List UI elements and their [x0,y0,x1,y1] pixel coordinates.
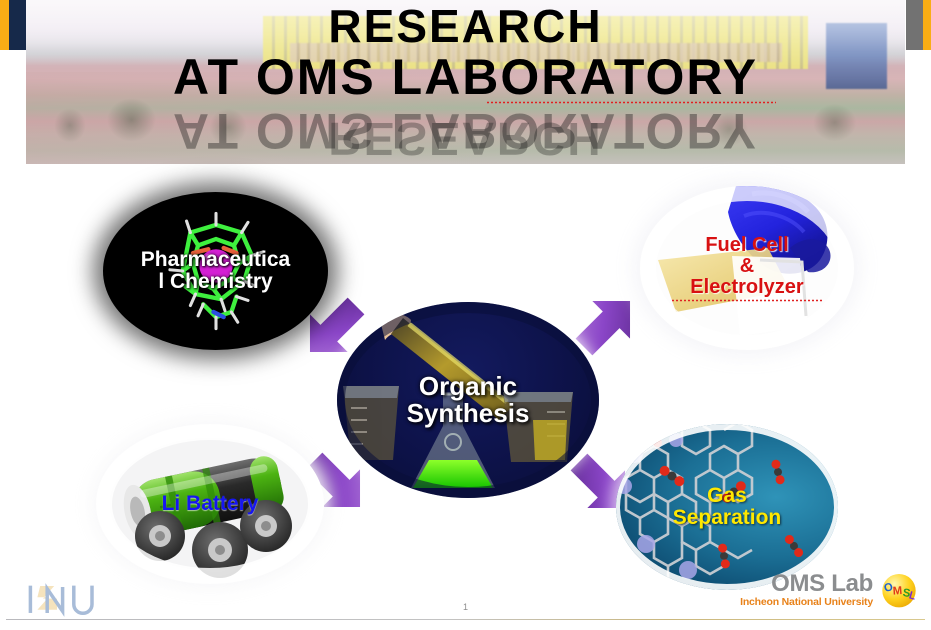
inu-university-logo-icon [22,580,106,620]
oms-lab-affiliation: Incheon National University [740,597,873,609]
fuel-label-line3: Electrolyzer [690,276,803,298]
title-reflection-line1: RESEARCH [26,116,905,162]
oms-lab-text: OMS Lab Incheon National University [740,571,873,609]
pharma-label-line1: Pharmaceutica [141,248,290,271]
oms-lab-name: OMS Lab [740,571,873,596]
title-reflection-line2: AT OMS LABORATORY [26,106,905,156]
omsl-badge-icon: O M S L [879,570,919,610]
slide-title-line1: RESEARCH [26,3,905,49]
node-organic-synthesis[interactable]: Organic Synthesis [337,302,599,498]
oms-lab-logo-block: OMS Lab Incheon National University O M … [740,570,919,610]
fuel-label-line2: & [740,255,754,277]
center-label-line1: Organic [419,371,517,401]
fuel-label-line1: Fuel Cell [705,234,788,256]
pharma-label-line2: l Chemistry [158,270,272,293]
accent-bar-orange-right [923,0,931,50]
svg-text:M: M [892,585,902,598]
presentation-slide: RESEARCH AT OMS LABORATORY RESEARCH AT O… [0,0,931,630]
accent-bar-navy-left [9,0,26,50]
node-gas-separation[interactable]: Gas Separation [616,424,838,590]
node-label-fuel-cell: Fuel Cell & Electrolyzer [641,235,853,302]
node-label-organic-synthesis: Organic Synthesis [401,373,536,428]
accent-bar-gray-right [906,0,923,50]
gas-label-line1: Gas [707,484,747,507]
spellcheck-underline-electrolyzer [671,299,823,302]
slide-title-line2: AT OMS LABORATORY [26,52,905,102]
gas-label-line2: Separation [673,506,782,529]
node-label-gas-separation: Gas Separation [667,485,788,529]
node-label-li-battery: Li Battery [156,493,265,515]
footer-divider [6,619,925,620]
node-fuel-cell-electrolyzer[interactable]: Fuel Cell & Electrolyzer [640,186,854,350]
accent-bar-orange-left [0,0,9,50]
node-li-battery[interactable]: + Li Battery [96,424,324,584]
node-label-pharmaceutical-chemistry: Pharmaceutica l Chemistry [110,249,322,293]
spellcheck-underline [486,101,776,104]
slide-title-block: RESEARCH AT OMS LABORATORY RESEARCH AT O… [26,0,905,164]
center-label-line2: Synthesis [407,398,530,428]
node-pharmaceutical-chemistry[interactable]: Pharmaceutica l Chemistry [103,192,328,350]
